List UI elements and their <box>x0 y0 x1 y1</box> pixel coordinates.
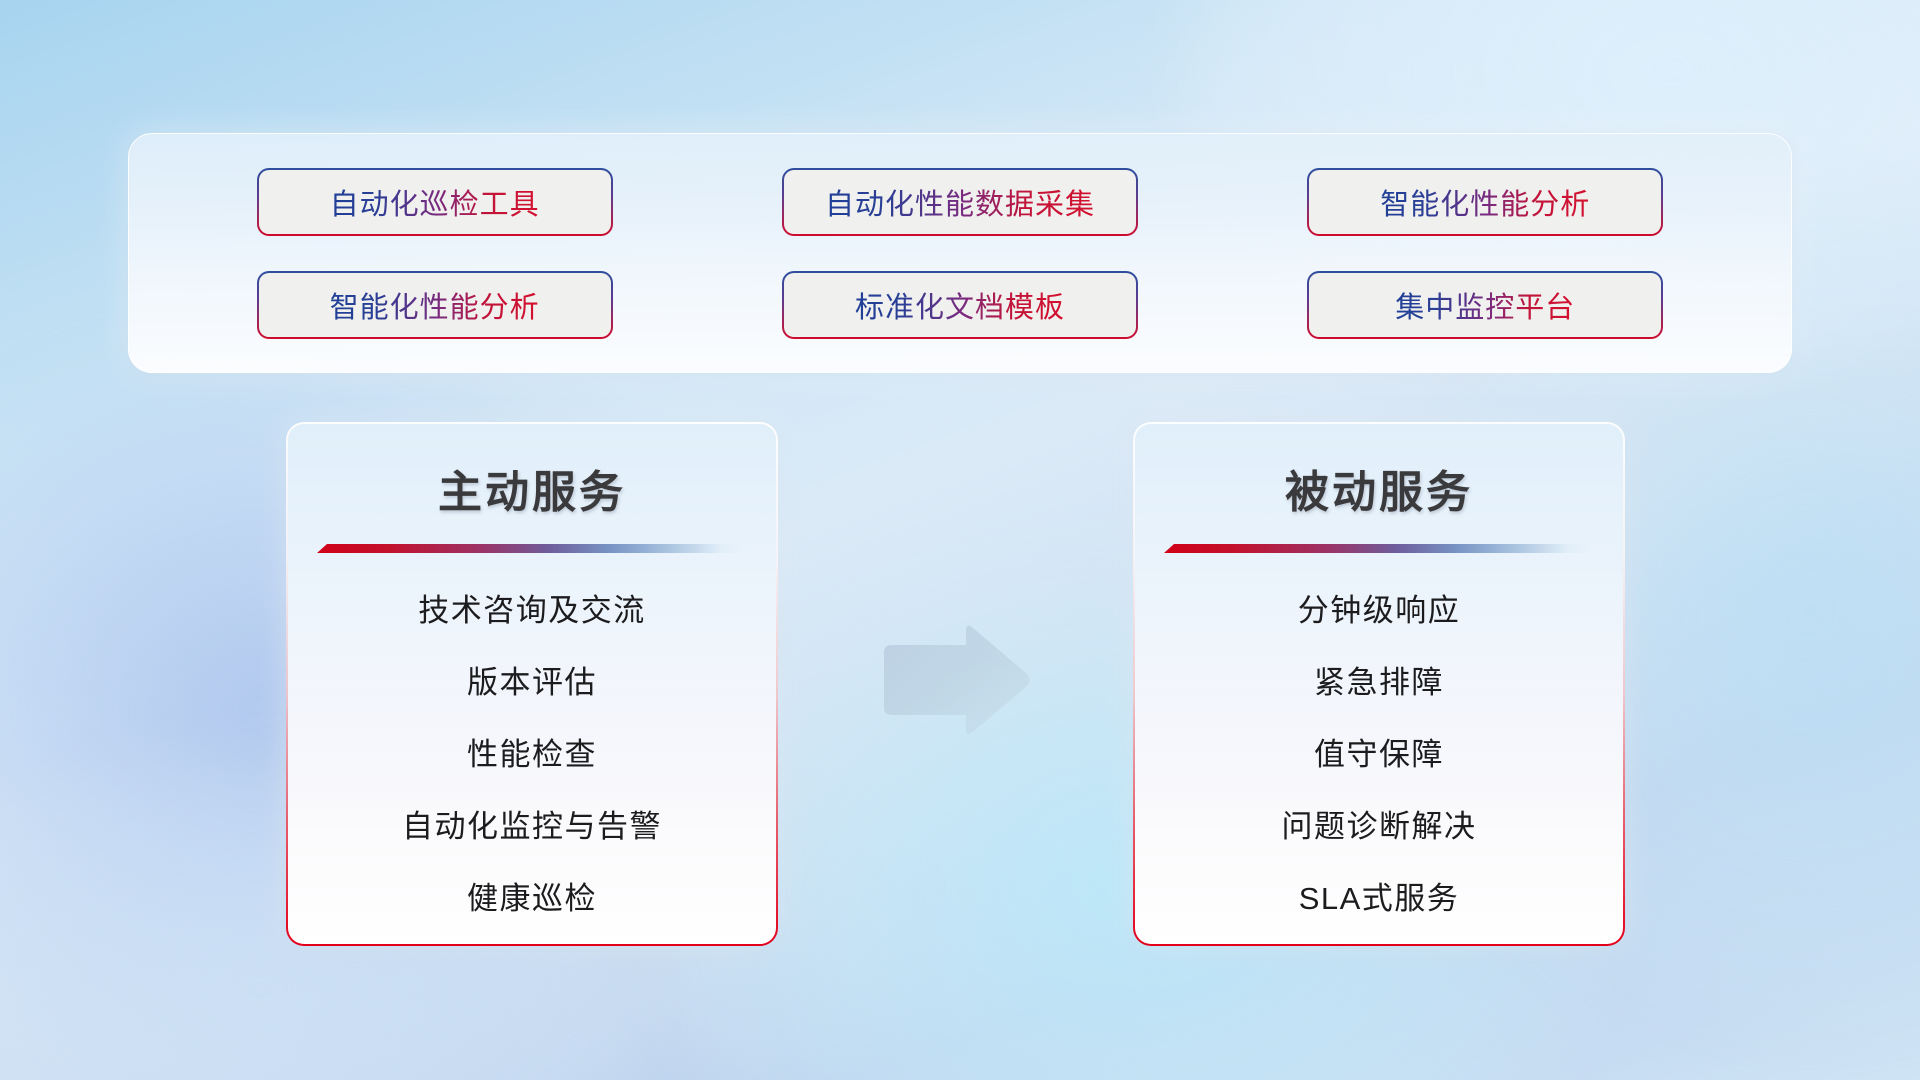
capability-pill-label: 智能化性能分析 <box>330 284 540 326</box>
capability-pill[interactable]: 自动化性能数据采集 <box>782 168 1138 236</box>
capability-pill[interactable]: 自动化巡检工具 <box>257 168 613 236</box>
capability-pill-label: 标准化文档模板 <box>855 284 1065 326</box>
arrow-right-icon <box>874 620 1034 740</box>
capabilities-panel: 自动化巡检工具 自动化性能数据采集 智能化性能分析 智能化性能分析 标准化文档模… <box>128 133 1792 373</box>
list-item[interactable]: SLA式服务 <box>1299 863 1460 935</box>
card-divider <box>1164 544 1594 553</box>
list-item[interactable]: 分钟级响应 <box>1298 575 1461 647</box>
capability-pill-label: 自动化巡检工具 <box>330 181 540 223</box>
capability-pill-label: 智能化性能分析 <box>1380 181 1590 223</box>
capabilities-grid: 自动化巡检工具 自动化性能数据采集 智能化性能分析 智能化性能分析 标准化文档模… <box>128 133 1792 373</box>
capability-pill-label: 集中监控平台 <box>1395 284 1575 326</box>
capability-pill[interactable]: 智能化性能分析 <box>1307 168 1663 236</box>
list-item[interactable]: 技术咨询及交流 <box>418 575 646 647</box>
service-card-reactive: 被动服务 分钟级响应 紧急排障 值守保障 问题诊断解决 SLA式服务 <box>1133 422 1625 946</box>
list-item[interactable]: 性能检查 <box>467 719 597 791</box>
list-item[interactable]: 值守保障 <box>1314 719 1444 791</box>
capability-pill[interactable]: 标准化文档模板 <box>782 271 1138 339</box>
card-divider <box>317 544 747 553</box>
list-item[interactable]: 问题诊断解决 <box>1282 791 1477 863</box>
card-title: 主动服务 <box>438 456 626 520</box>
capability-pill[interactable]: 集中监控平台 <box>1307 271 1663 339</box>
card-item-list: 技术咨询及交流 版本评估 性能检查 自动化监控与告警 健康巡检 <box>288 575 776 935</box>
service-card-proactive: 主动服务 技术咨询及交流 版本评估 性能检查 自动化监控与告警 健康巡检 <box>286 422 778 946</box>
list-item[interactable]: 自动化监控与告警 <box>402 791 662 863</box>
list-item[interactable]: 紧急排障 <box>1314 647 1444 719</box>
list-item[interactable]: 健康巡检 <box>467 863 597 935</box>
card-title: 被动服务 <box>1285 456 1473 520</box>
card-item-list: 分钟级响应 紧急排障 值守保障 问题诊断解决 SLA式服务 <box>1135 575 1623 935</box>
capability-pill[interactable]: 智能化性能分析 <box>257 271 613 339</box>
list-item[interactable]: 版本评估 <box>467 647 597 719</box>
capability-pill-label: 自动化性能数据采集 <box>825 181 1095 223</box>
